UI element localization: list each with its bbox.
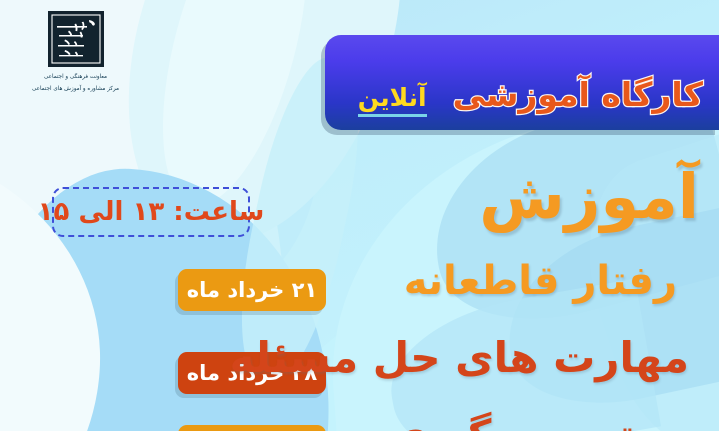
heading-problem-solving-skills: مهارت های حل مسئله [230,333,689,382]
time-box: ساعت: ۱۳ الی ۱۵ [52,187,250,237]
university-logo: معاونت فرهنگی و اجتماعی مرکز مشاوره و آم… [18,8,133,93]
logo-caption-line-1: معاونت فرهنگی و اجتماعی [18,73,133,82]
workshop-poster: معاونت فرهنگی و اجتماعی مرکز مشاوره و آم… [0,0,719,431]
university-seal-icon [45,8,107,70]
heading-assertive-behavior: رفتار قاطعانه [404,258,677,304]
workshop-banner: کارگاه آموزشی آنلاین [325,35,719,130]
banner-subtitle-online: آنلاین [358,83,427,117]
time-label: ساعت: ۱۳ الی ۱۵ [38,197,265,227]
heading-amoozesh: آموزش [479,160,699,233]
logo-caption-line-2: مرکز مشاوره و آموزش های اجتماعی [18,85,133,94]
banner-title: کارگاه آموزشی [453,75,703,114]
banner-content: کارگاه آموزشی آنلاین [358,49,703,117]
date-badge-1-label: ۲۱ خرداد ماه [187,278,318,302]
heading-decision-making: و تصمیم گیری [390,412,673,431]
date-badge-1: ۲۱ خرداد ماه [178,269,326,311]
date-badge-3: ۴ تیر ماه [178,425,326,431]
